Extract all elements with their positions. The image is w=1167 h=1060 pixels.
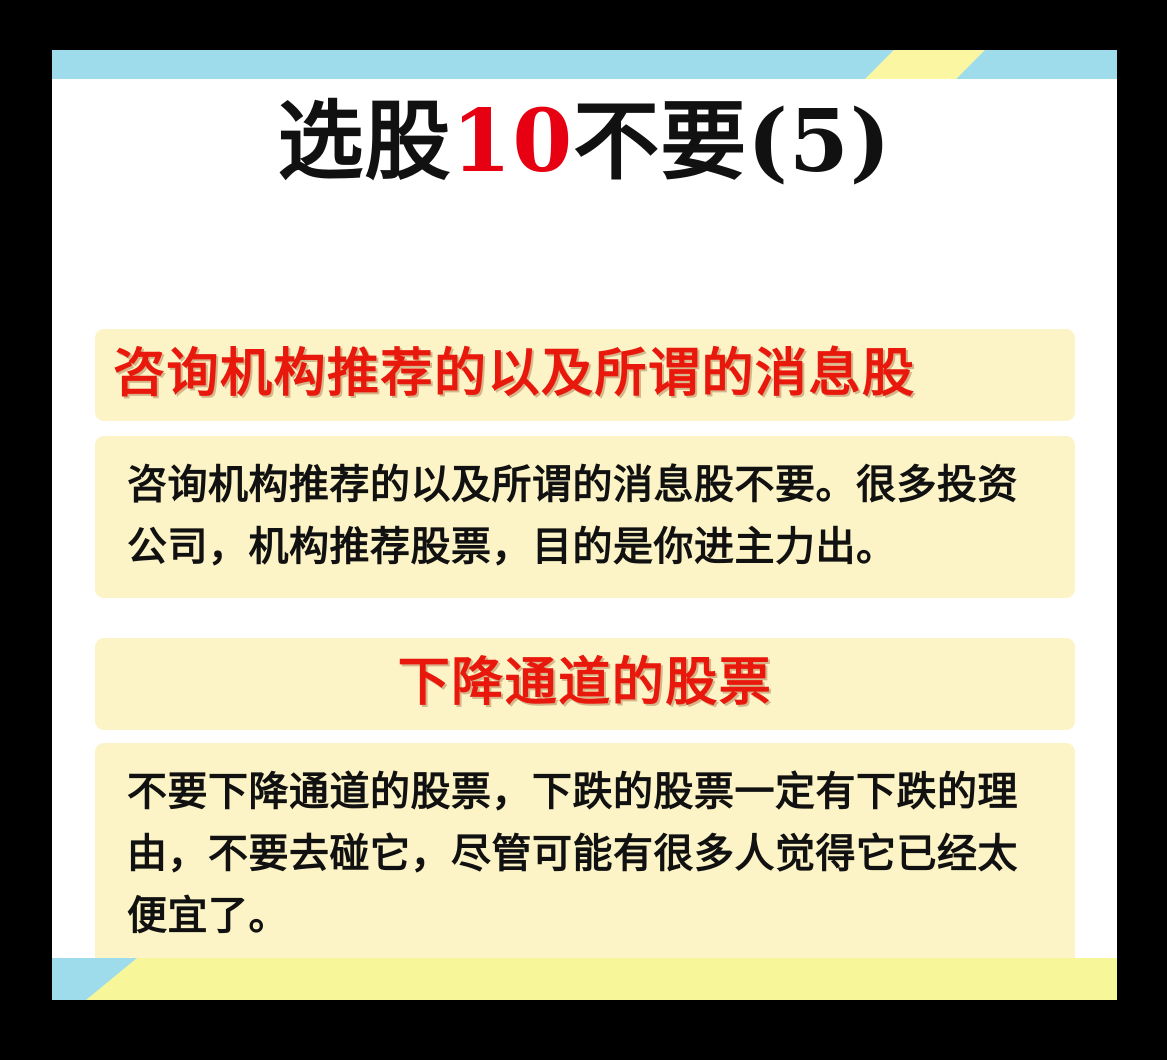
page-title: 选股10不要(5) bbox=[52, 90, 1117, 194]
poster-card: 选股10不要(5) 咨询机构推荐的以及所谓的消息股 咨询机构推荐的以及所谓的消息… bbox=[52, 50, 1117, 1000]
section-2-heading: 下降通道的股票 bbox=[95, 638, 1075, 730]
section-1-heading: 咨询机构推荐的以及所谓的消息股 bbox=[95, 329, 1075, 421]
content-stack: 咨询机构推荐的以及所谓的消息股 咨询机构推荐的以及所谓的消息股不要。很多投资公司… bbox=[95, 245, 1075, 967]
title-suffix: 不要(5) bbox=[573, 91, 891, 192]
section-1-body: 咨询机构推荐的以及所谓的消息股不要。很多投资公司，机构推荐股票，目的是你进主力出… bbox=[95, 436, 1075, 598]
top-band-yellow-wedge bbox=[865, 50, 985, 79]
top-decorative-band bbox=[52, 50, 1117, 79]
section-2-body: 不要下降通道的股票，下跌的股票一定有下跌的理由，不要去碰它，尽管可能有很多人觉得… bbox=[95, 743, 1075, 967]
title-prefix: 选股 bbox=[278, 91, 452, 192]
bottom-decorative-band bbox=[52, 958, 1117, 1000]
bottom-band-blue-wedge bbox=[52, 958, 137, 1000]
poster-frame: 选股10不要(5) 咨询机构推荐的以及所谓的消息股 咨询机构推荐的以及所谓的消息… bbox=[0, 0, 1167, 1060]
title-accent-number: 10 bbox=[452, 91, 574, 192]
